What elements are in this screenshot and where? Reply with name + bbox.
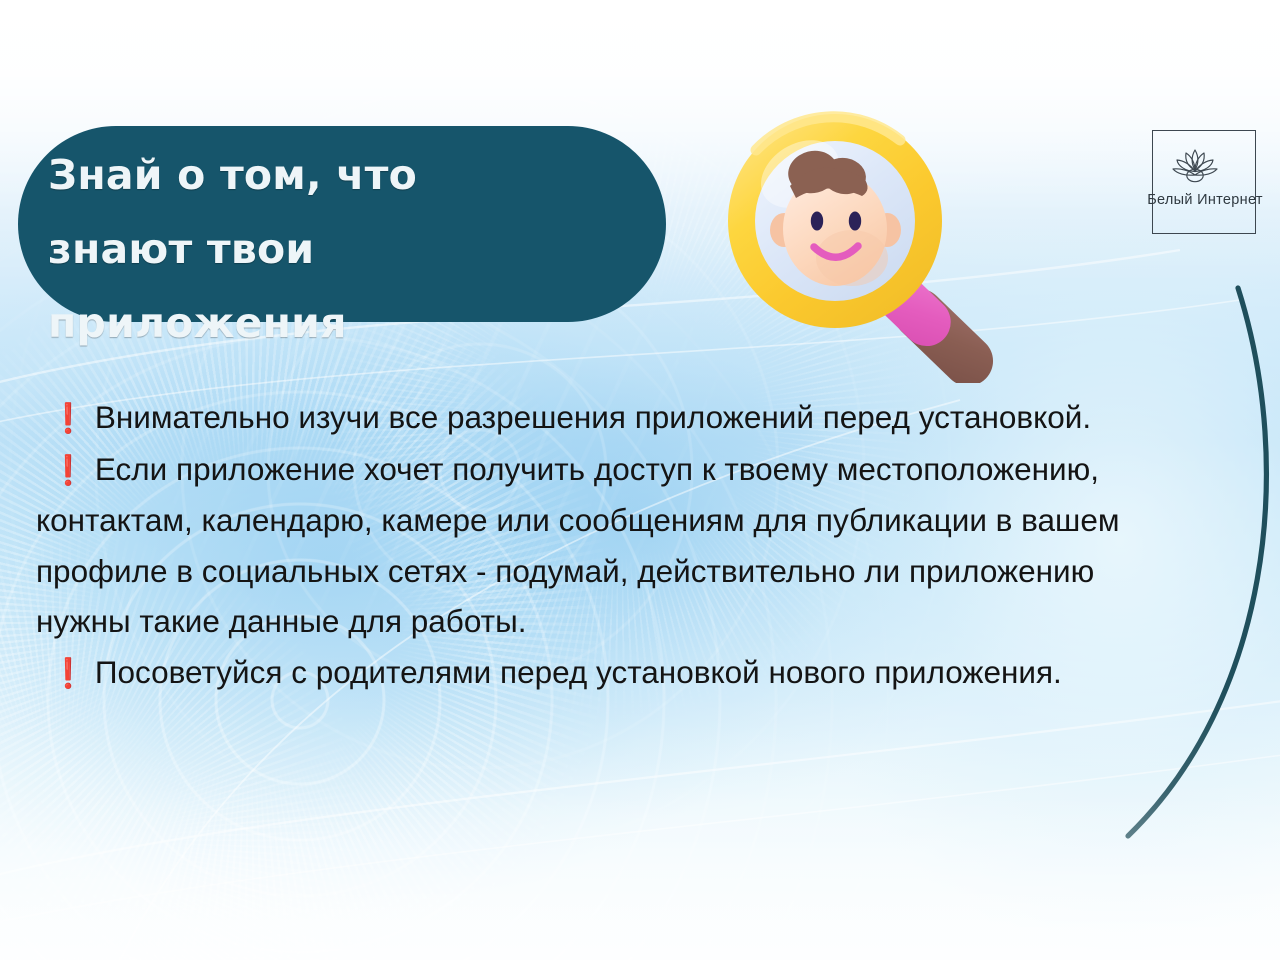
- bullet-paragraph-2: ❗ Если приложение хочет получить доступ …: [36, 444, 1146, 647]
- bullet-paragraph-3: ❗ Посоветуйся с родителями перед установ…: [36, 647, 1146, 699]
- brand-logo: Белый Интернет: [1152, 130, 1256, 234]
- magnifying-glass-with-child-face-icon: [722, 108, 1022, 383]
- bullet-paragraph-1: ❗ Внимательно изучи все разрешения прило…: [36, 392, 1146, 444]
- exclamation-icon: ❗: [50, 656, 86, 690]
- decorative-arc: [1128, 288, 1266, 836]
- eye-right: [849, 212, 861, 231]
- page-title: Знай о том, что знают твои приложения: [48, 138, 748, 360]
- eye-left: [811, 212, 823, 231]
- bullet-text-1: Внимательно изучи все разрешения приложе…: [95, 399, 1091, 435]
- logo-caption: Белый Интернет: [1125, 192, 1280, 208]
- bullet-text-2: Если приложение хочет получить доступ к …: [36, 451, 1120, 640]
- slide-canvas: Знай о том, что знают твои приложения: [0, 0, 1280, 960]
- lotus-flower-icon: [1171, 144, 1219, 186]
- exclamation-icon: ❗: [50, 401, 86, 435]
- exclamation-icon: ❗: [50, 453, 86, 487]
- body-copy: ❗ Внимательно изучи все разрешения прило…: [36, 392, 1146, 698]
- bullet-text-3: Посоветуйся с родителями перед установко…: [95, 654, 1062, 690]
